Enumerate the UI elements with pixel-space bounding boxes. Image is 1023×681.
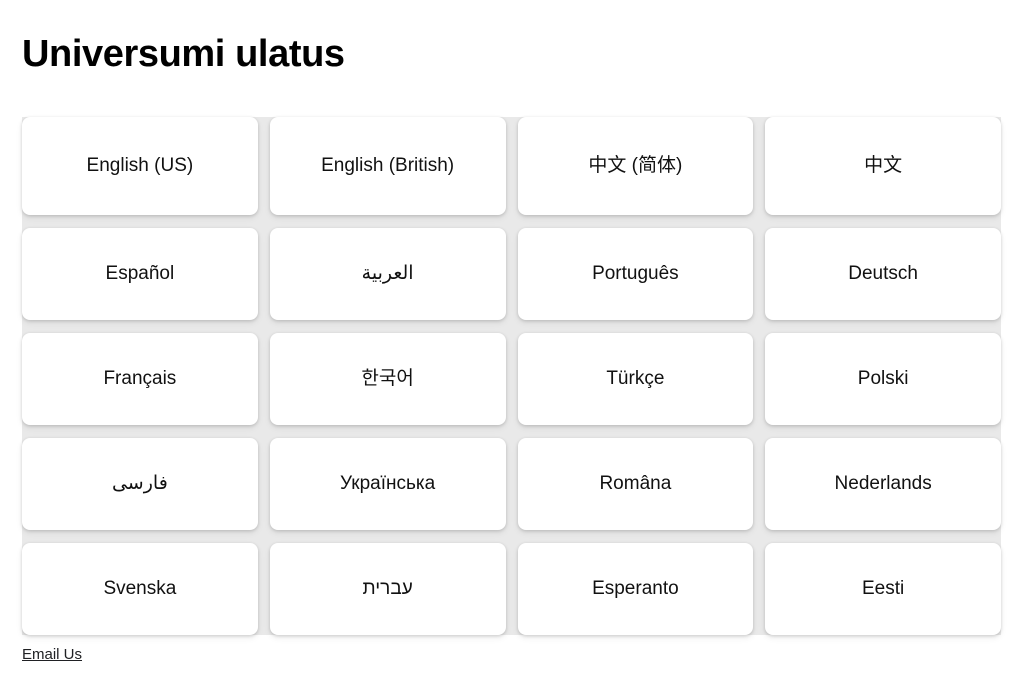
language-option-label: Português bbox=[592, 262, 679, 286]
language-option-label: Nederlands bbox=[835, 472, 932, 496]
language-option[interactable]: Svenska bbox=[22, 543, 258, 635]
page-title: Universumi ulatus bbox=[22, 33, 345, 77]
language-option-label: Türkçe bbox=[606, 367, 664, 391]
email-us-link[interactable]: Email Us bbox=[22, 646, 82, 663]
language-option[interactable]: Français bbox=[22, 333, 258, 425]
language-option[interactable]: 한국어 bbox=[270, 333, 506, 425]
language-option[interactable]: עברית bbox=[270, 543, 506, 635]
language-option[interactable]: العربية bbox=[270, 228, 506, 320]
language-option-label: Français bbox=[103, 367, 176, 391]
language-option-label: Eesti bbox=[862, 577, 904, 601]
language-option-label: Svenska bbox=[103, 577, 176, 601]
language-option[interactable]: Eesti bbox=[765, 543, 1001, 635]
language-selection-page: Universumi ulatus English (US)English (B… bbox=[0, 0, 1023, 681]
language-option-label: Deutsch bbox=[848, 262, 918, 286]
language-option-label: 한국어 bbox=[361, 367, 413, 391]
language-option[interactable]: Українська bbox=[270, 438, 506, 530]
language-option[interactable]: فارسی bbox=[22, 438, 258, 530]
language-grid: English (US)English (British)中文 (简体)中文Es… bbox=[22, 117, 1001, 635]
language-option-label: Esperanto bbox=[592, 577, 679, 601]
language-option[interactable]: Türkçe bbox=[518, 333, 754, 425]
language-option[interactable]: Nederlands bbox=[765, 438, 1001, 530]
language-option-label: Româna bbox=[599, 472, 671, 496]
language-option-label: English (British) bbox=[321, 154, 454, 178]
language-option[interactable]: 中文 bbox=[765, 117, 1001, 215]
language-option-label: Español bbox=[106, 262, 175, 286]
footer: Email Us bbox=[22, 646, 82, 663]
language-option[interactable]: Esperanto bbox=[518, 543, 754, 635]
language-option[interactable]: English (British) bbox=[270, 117, 506, 215]
language-option-label: Polski bbox=[858, 367, 909, 391]
language-option[interactable]: Româna bbox=[518, 438, 754, 530]
language-option-label: فارسی bbox=[112, 472, 168, 496]
language-option[interactable]: Português bbox=[518, 228, 754, 320]
language-option[interactable]: English (US) bbox=[22, 117, 258, 215]
language-option[interactable]: Polski bbox=[765, 333, 1001, 425]
language-option[interactable]: Español bbox=[22, 228, 258, 320]
language-option-label: English (US) bbox=[87, 154, 194, 178]
language-option[interactable]: Deutsch bbox=[765, 228, 1001, 320]
language-option-label: العربية bbox=[362, 262, 414, 286]
language-option-label: Українська bbox=[340, 472, 435, 496]
language-option[interactable]: 中文 (简体) bbox=[518, 117, 754, 215]
language-option-label: 中文 (简体) bbox=[588, 154, 682, 178]
language-option-label: 中文 bbox=[864, 154, 902, 178]
language-option-label: עברית bbox=[363, 577, 413, 601]
